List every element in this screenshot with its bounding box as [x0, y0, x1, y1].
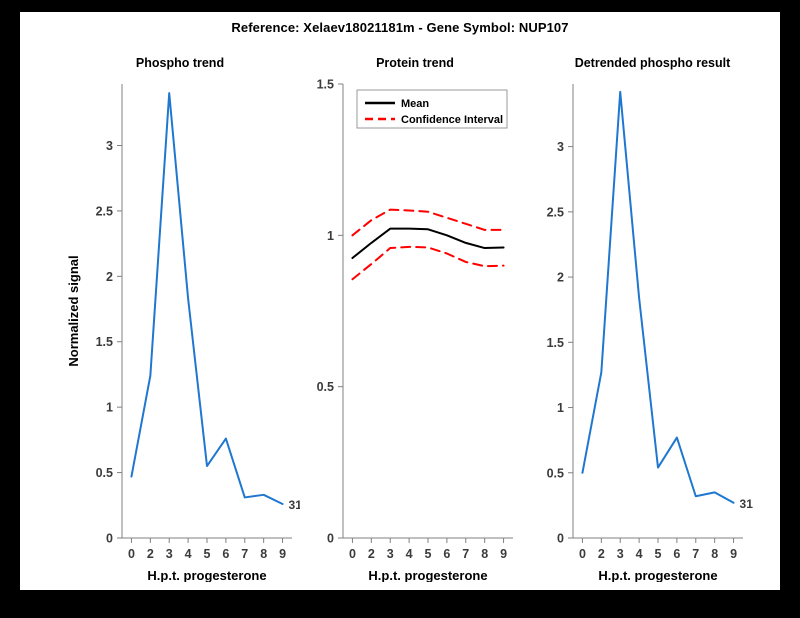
x-axis-title: H.p.t. progesterone — [368, 568, 487, 582]
x-tick-label: 7 — [241, 547, 248, 561]
x-tick-label: 4 — [185, 547, 192, 561]
y-tick-label: 3 — [557, 140, 564, 154]
x-tick-label: 0 — [128, 547, 135, 561]
y-tick-label: 0.5 — [96, 466, 113, 480]
x-tick-label: 9 — [730, 547, 737, 561]
y-tick-label: 3 — [106, 139, 113, 153]
data-series-line — [131, 93, 282, 504]
legend-label: Mean — [401, 98, 429, 110]
x-tick-label: 6 — [673, 547, 680, 561]
x-tick-label: 2 — [598, 547, 605, 561]
x-tick-label: 2 — [368, 547, 375, 561]
y-tick-label: 1.5 — [547, 336, 564, 350]
y-tick-label: 0 — [327, 532, 334, 546]
x-tick-label: 9 — [279, 547, 286, 561]
x-tick-label: 8 — [481, 547, 488, 561]
y-tick-label: 0.5 — [547, 466, 564, 480]
data-series-dashed-line — [352, 210, 503, 236]
x-tick-label: 4 — [406, 547, 413, 561]
figure-title: Reference: Xelaev18021181m - Gene Symbol… — [20, 20, 780, 35]
x-tick-label: 0 — [349, 547, 356, 561]
data-series-solid-line — [352, 229, 503, 258]
y-tick-label: 2.5 — [96, 204, 113, 218]
panel-detrended-phospho: Detrended phospho result 00.511.522.5302… — [525, 42, 780, 582]
y-tick-label: 0 — [557, 532, 564, 546]
y-tick-label: 0 — [106, 532, 113, 546]
x-tick-label: 0 — [579, 547, 586, 561]
detrended-phospho-plot: 00.511.522.53023456789H.p.t. progesteron… — [525, 42, 780, 582]
x-tick-label: 8 — [260, 547, 267, 561]
y-tick-label: 1 — [106, 401, 113, 415]
y-tick-label: 1.5 — [317, 78, 334, 92]
x-tick-label: 8 — [711, 547, 718, 561]
y-axis-title: Normalized signal — [66, 255, 81, 366]
y-tick-label: 2 — [557, 271, 564, 285]
y-tick-label: 1 — [557, 401, 564, 415]
x-tick-label: 5 — [204, 547, 211, 561]
y-tick-label: 1 — [327, 229, 334, 243]
data-series-dashed-line — [352, 247, 503, 279]
x-tick-label: 4 — [636, 547, 643, 561]
x-tick-label: 6 — [443, 547, 450, 561]
x-tick-label: 2 — [147, 547, 154, 561]
panel-protein-trend: Protein trend 00.511.5023456789H.p.t. pr… — [295, 42, 535, 582]
x-tick-label: 7 — [692, 547, 699, 561]
x-tick-label: 6 — [222, 547, 229, 561]
y-tick-label: 2 — [106, 270, 113, 284]
x-axis-title: H.p.t. progesterone — [147, 568, 266, 582]
x-tick-label: 5 — [655, 547, 662, 561]
x-tick-label: 3 — [166, 547, 173, 561]
legend-label: Confidence Interval — [401, 114, 503, 126]
x-tick-label: 9 — [500, 547, 507, 561]
x-tick-label: 3 — [617, 547, 624, 561]
y-tick-label: 1.5 — [96, 335, 113, 349]
y-tick-label: 2.5 — [547, 205, 564, 219]
endpoint-annotation: 31 — [740, 497, 754, 511]
y-tick-label: 0.5 — [317, 380, 334, 394]
x-tick-label: 5 — [425, 547, 432, 561]
phospho-trend-plot: 00.511.522.53023456789H.p.t. progesteron… — [60, 42, 300, 582]
x-tick-label: 7 — [462, 547, 469, 561]
panel-phospho-trend: Phospho trend 00.511.522.53023456789H.p.… — [60, 42, 300, 582]
x-tick-label: 3 — [387, 547, 394, 561]
x-axis-title: H.p.t. progesterone — [598, 568, 717, 582]
figure-window: Reference: Xelaev18021181m - Gene Symbol… — [20, 12, 780, 590]
data-series-line — [582, 92, 733, 503]
protein-trend-plot: 00.511.5023456789H.p.t. progesteroneMean… — [295, 42, 535, 582]
